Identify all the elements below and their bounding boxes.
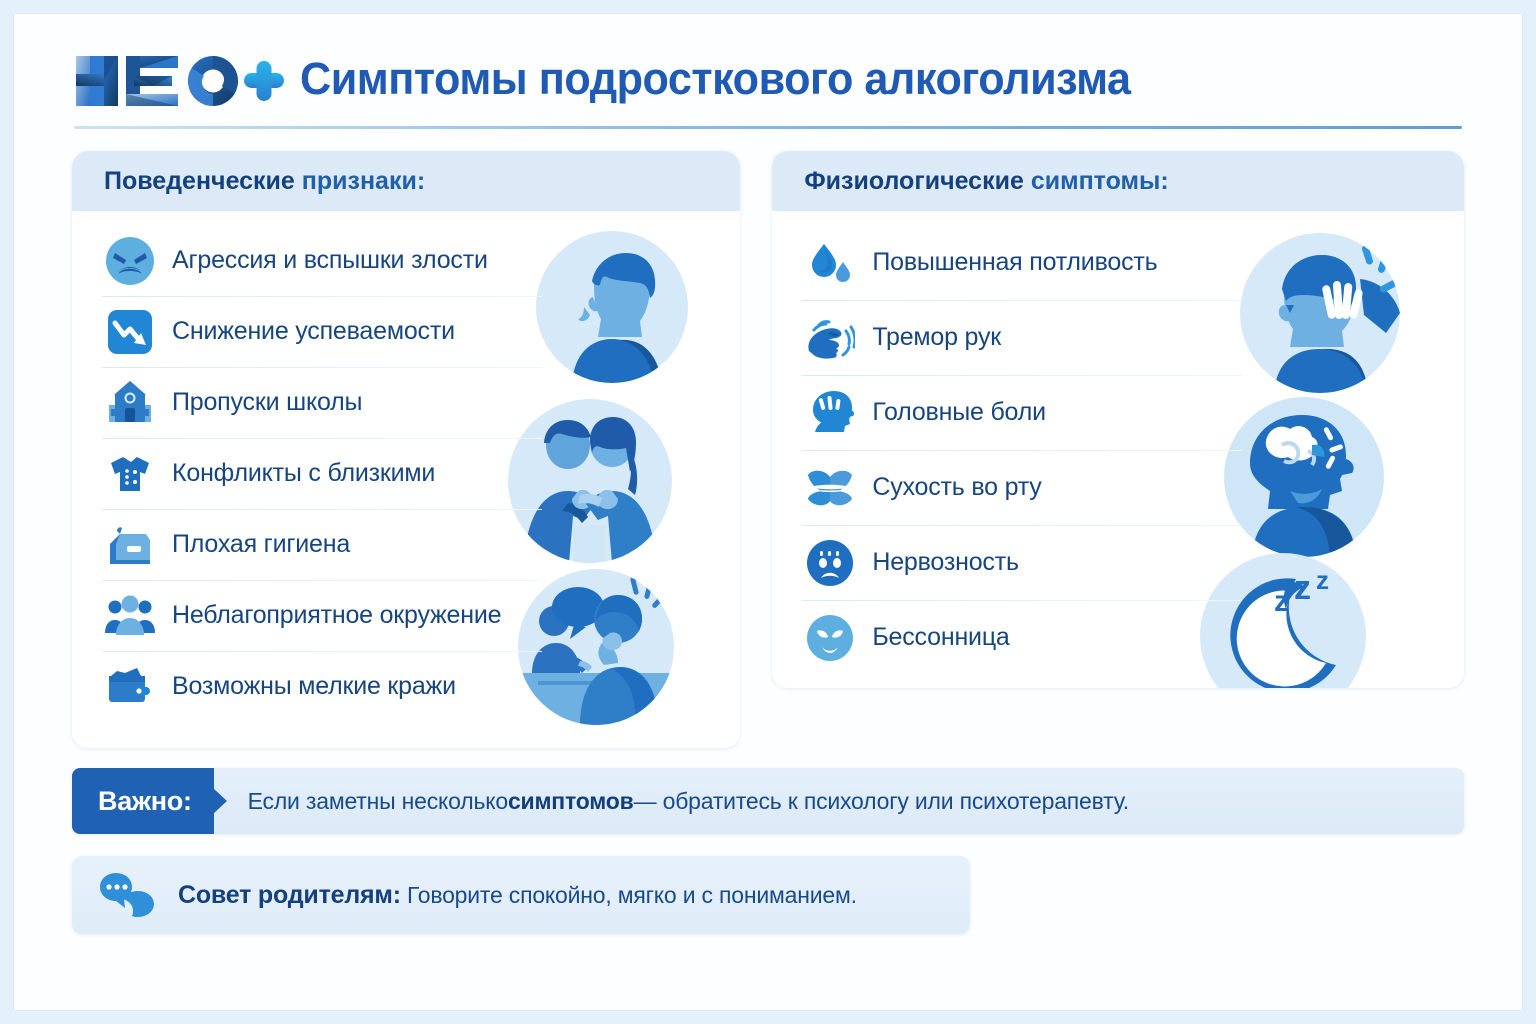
important-banner: Важно: Если заметны несколько симптомов … [72, 768, 1464, 834]
infographic-poster: Симптомы подросткового алкоголизма Повед… [0, 0, 1536, 1024]
grades-down-chart-icon [104, 306, 156, 358]
list-item[interactable]: Повышенная потливость [794, 225, 1442, 300]
list-item-label: Агрессия и вспышки злости [172, 246, 488, 275]
tshirt-icon [104, 448, 156, 500]
panel-physiological-heading-rest: симптомы: [1024, 167, 1169, 195]
list-item[interactable]: Тремор рук [794, 300, 1442, 375]
important-text-after: — обратитесь к психологу или психотерапе… [634, 788, 1129, 815]
list-item[interactable]: Сухость во рту [794, 450, 1442, 525]
panel-physiological: Физиологические симптомы: [772, 151, 1464, 688]
list-item-label: Пропуски школы [172, 388, 362, 417]
panel-behavioral-heading-bold: Поведенческие [104, 167, 295, 195]
list-item-label: Бессонница [872, 623, 1009, 652]
behavioral-item-list: Агрессия и вспышки злости Снижение усп [94, 225, 718, 722]
school-building-icon [104, 377, 156, 429]
head-pain-icon [804, 387, 856, 439]
worried-face-icon [804, 537, 856, 589]
brand-logo [74, 48, 284, 110]
list-item-label: Сухость во рту [872, 473, 1041, 502]
header-divider [74, 126, 1462, 129]
neo-plus-logo-icon [74, 52, 284, 110]
list-item[interactable]: Бессонница [794, 600, 1442, 675]
lips-icon [804, 462, 856, 514]
list-item[interactable]: Агрессия и вспышки злости [94, 225, 718, 296]
panel-physiological-body: z z z [772, 211, 1464, 685]
list-item-label: Неблагоприятное окружение [172, 601, 501, 630]
advice-text: Совет родителям: Говорите спокойно, мягк… [178, 881, 857, 910]
panel-behavioral: Поведенческие признаки: [72, 151, 740, 748]
panel-physiological-heading: Физиологические симптомы: [772, 151, 1464, 211]
important-text-before: Если заметны несколько [248, 788, 508, 815]
list-item-label: Снижение успеваемости [172, 317, 455, 346]
list-item[interactable]: Неблагоприятное окружение [94, 580, 718, 651]
list-item-label: Повышенная потливость [872, 248, 1157, 277]
panel-behavioral-heading-rest: признаки: [295, 167, 425, 195]
panel-physiological-heading-bold: Физиологические [804, 167, 1024, 195]
wallet-icon [104, 661, 156, 713]
columns: Поведенческие признаки: [60, 151, 1476, 748]
advice-label-rest: Говорите спокойно, мягко и с пониманием. [401, 882, 857, 908]
important-text-bold: симптомов [508, 788, 634, 815]
group-people-icon [104, 590, 156, 642]
page-title: Симптомы подросткового алкоголизма [300, 53, 1131, 105]
list-item-label: Возможны мелкие кражи [172, 672, 456, 701]
chat-bubbles-icon [98, 867, 162, 923]
shaking-hand-icon [804, 312, 856, 364]
list-item[interactable]: Плохая гигиена [94, 509, 718, 580]
list-item-label: Конфликты с близкими [172, 459, 435, 488]
advice-banner: Совет родителям: Говорите спокойно, мягк… [72, 856, 970, 934]
physiological-item-list: Повышенная потливость [794, 225, 1442, 675]
list-item[interactable]: Конфликты с близкими [94, 438, 718, 509]
list-item[interactable]: Головные боли [794, 375, 1442, 450]
panel-behavioral-body: Агрессия и вспышки злости Снижение усп [72, 211, 740, 732]
angry-face-icon [104, 235, 156, 287]
list-item-label: Головные боли [872, 398, 1046, 427]
list-item[interactable]: Пропуски школы [94, 367, 718, 438]
list-item[interactable]: Нервозность [794, 525, 1442, 600]
panel-behavioral-heading: Поведенческие признаки: [72, 151, 740, 211]
important-tag: Важно: [72, 768, 214, 834]
list-item-label: Нервозность [872, 548, 1018, 577]
advice-label-bold: Совет родителям: [178, 881, 401, 909]
soap-hygiene-icon [104, 519, 156, 571]
list-item-label: Плохая гигиена [172, 530, 350, 559]
list-item[interactable]: Возможны мелкие кражи [94, 651, 718, 722]
infographic-card: Симптомы подросткового алкоголизма Повед… [14, 14, 1522, 1010]
header: Симптомы подросткового алкоголизма [60, 36, 1476, 122]
sleepless-face-icon [804, 612, 856, 664]
list-item-label: Тремор рук [872, 323, 1001, 352]
important-text: Если заметны несколько симптомов — обрат… [214, 768, 1129, 834]
water-drops-icon [804, 237, 856, 289]
list-item[interactable]: Снижение успеваемости [94, 296, 718, 367]
